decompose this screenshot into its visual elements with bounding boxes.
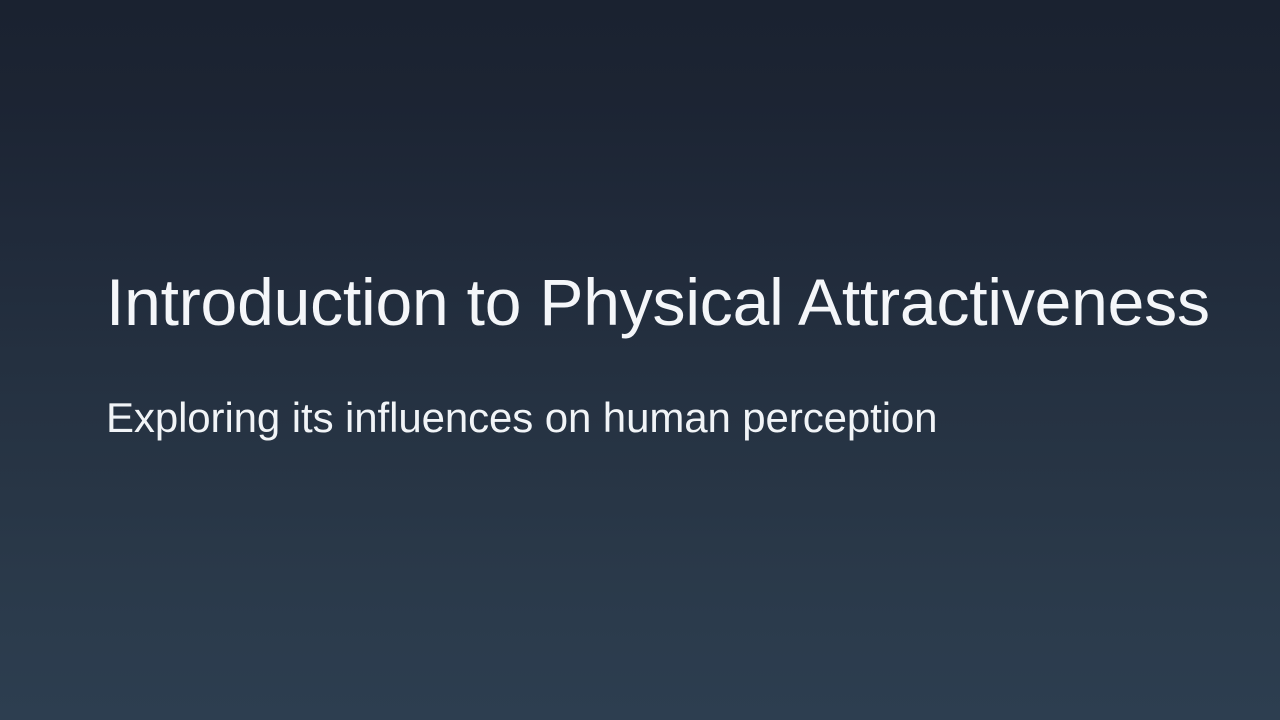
slide-subtitle: Exploring its influences on human percep… (106, 338, 1166, 441)
title-text-block: Introduction to Physical Attractiveness … (106, 268, 1166, 441)
slide-title: Introduction to Physical Attractiveness (106, 268, 1166, 338)
presentation-slide: Introduction to Physical Attractiveness … (0, 0, 1280, 720)
